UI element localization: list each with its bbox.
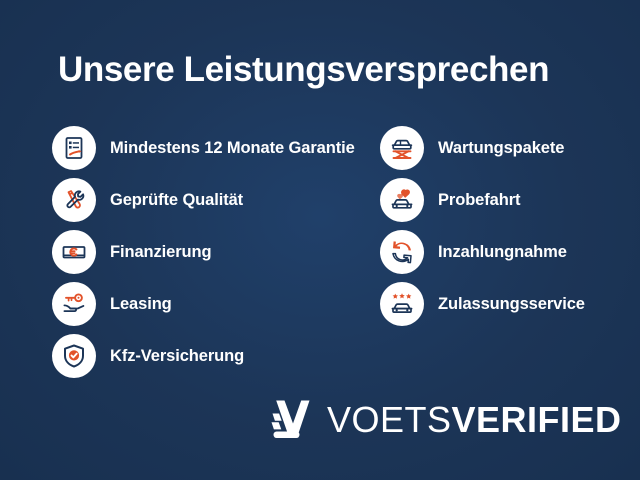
promises-left-column: Mindestens 12 Monate Garantie Geprüfte Q… bbox=[52, 122, 382, 382]
promise-label: Geprüfte Qualität bbox=[110, 192, 243, 209]
promise-item-leasing: Leasing bbox=[52, 278, 382, 330]
promises-right-column: Wartungspakete Probefahrt bbox=[380, 122, 630, 330]
logo-name-bold: VERIFIED bbox=[452, 399, 622, 440]
promise-label: Wartungspakete bbox=[438, 140, 564, 157]
promise-label: Mindestens 12 Monate Garantie bbox=[110, 140, 355, 157]
promise-label: Inzahlungnahme bbox=[438, 244, 567, 261]
promise-item-garantie: Mindestens 12 Monate Garantie bbox=[52, 122, 382, 174]
promise-label: Finanzierung bbox=[110, 244, 211, 261]
shield-check-icon bbox=[52, 334, 96, 378]
promises-banner: Unsere Leistungsversprechen Min bbox=[0, 0, 640, 480]
logo-wordmark: VOETSVERIFIED bbox=[327, 402, 622, 438]
promise-label: Leasing bbox=[110, 296, 172, 313]
promise-item-versicherung: Kfz-Versicherung bbox=[52, 330, 382, 382]
promise-item-inzahlungnahme: Inzahlungnahme bbox=[380, 226, 630, 278]
promise-label: Kfz-Versicherung bbox=[110, 348, 244, 365]
logo-name-light: VOETS bbox=[327, 399, 452, 440]
car-on-lift-icon bbox=[380, 126, 424, 170]
wrench-screwdriver-icon bbox=[52, 178, 96, 222]
car-stars-icon bbox=[380, 282, 424, 326]
promise-label: Zulassungsservice bbox=[438, 296, 585, 313]
certificate-document-icon bbox=[52, 126, 96, 170]
voets-verified-logo: VOETSVERIFIED bbox=[271, 398, 622, 442]
promise-item-zulassungsservice: Zulassungsservice bbox=[380, 278, 630, 330]
exchange-arrows-icon bbox=[380, 230, 424, 274]
euro-banknote-icon bbox=[52, 230, 96, 274]
promise-item-probefahrt: Probefahrt bbox=[380, 174, 630, 226]
voets-v-mark-icon bbox=[271, 398, 313, 442]
promise-item-wartungspakete: Wartungspakete bbox=[380, 122, 630, 174]
car-heart-icon bbox=[380, 178, 424, 222]
key-in-hand-icon bbox=[52, 282, 96, 326]
promise-label: Probefahrt bbox=[438, 192, 520, 209]
promise-item-qualitaet: Geprüfte Qualität bbox=[52, 174, 382, 226]
promise-item-finanzierung: Finanzierung bbox=[52, 226, 382, 278]
page-title: Unsere Leistungsversprechen bbox=[58, 50, 549, 90]
